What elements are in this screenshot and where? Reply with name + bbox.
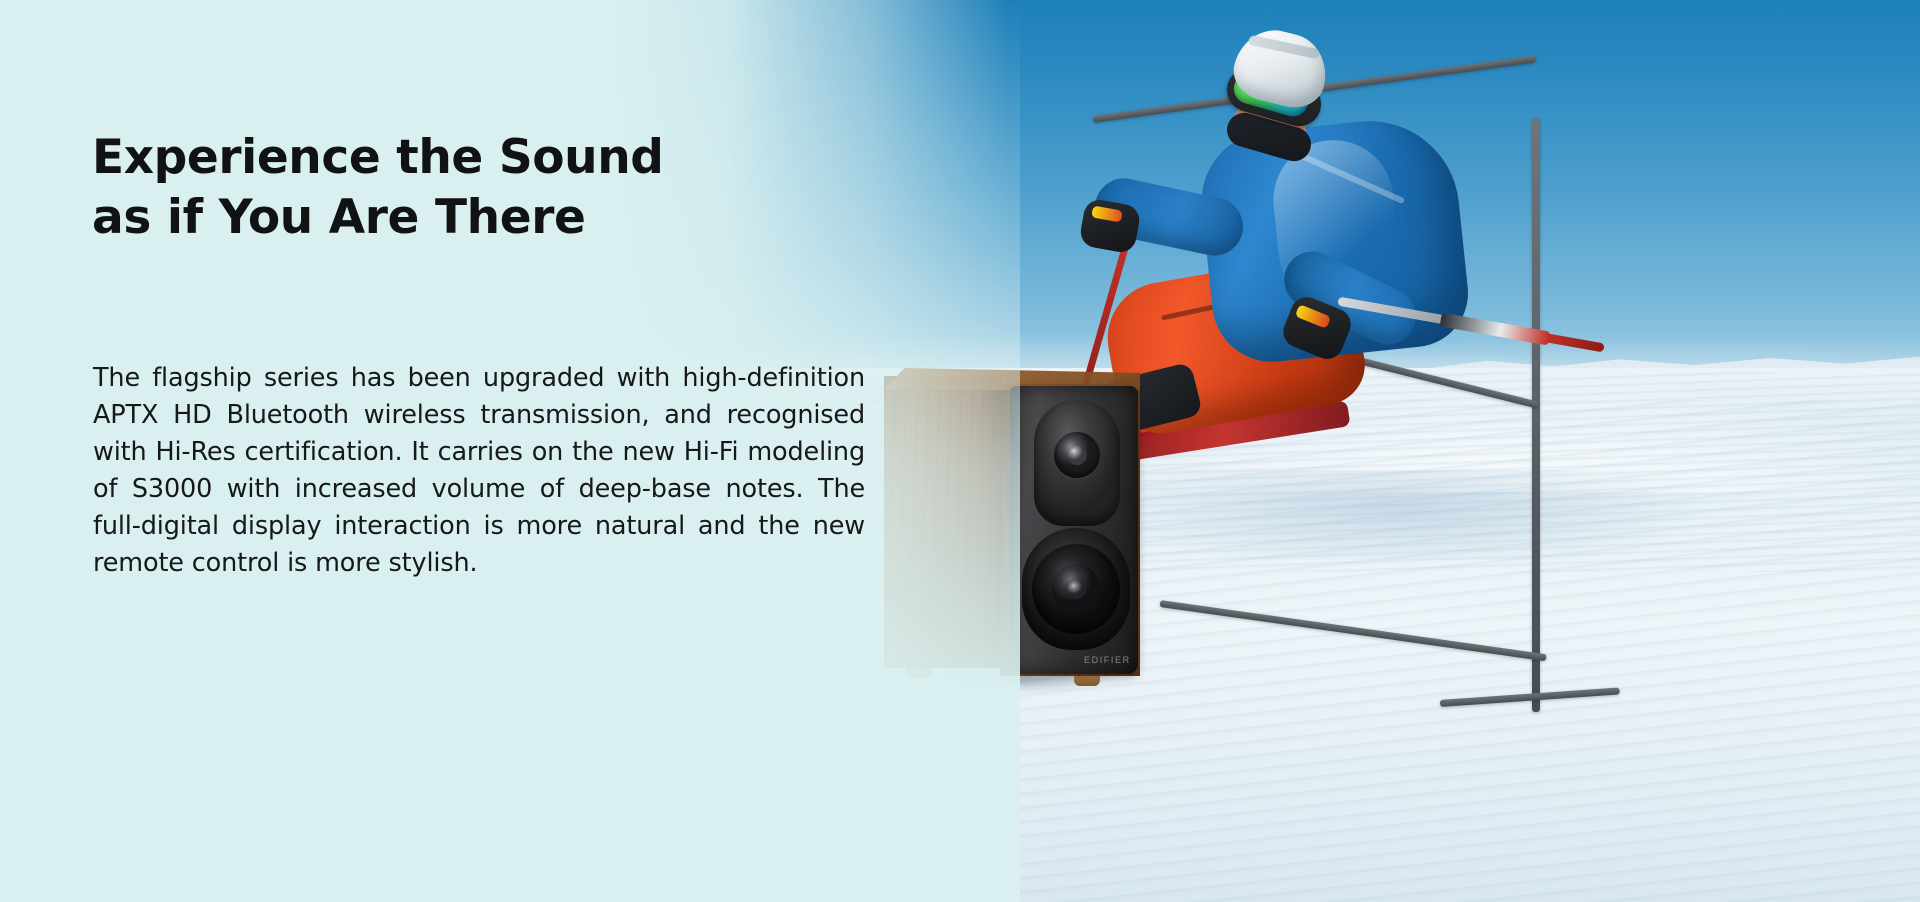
promo-banner: EDIFIER Experience the Sound as if You A… [0, 0, 1920, 902]
glove-left [1078, 198, 1141, 255]
page-title: Experience the Sound as if You Are There [92, 128, 852, 248]
body-paragraph: The flagship series has been upgraded wi… [93, 360, 865, 582]
woofer-dust-cap [1067, 580, 1086, 599]
tweeter-dome [1067, 445, 1087, 465]
brand-logo: EDIFIER [1084, 654, 1130, 666]
pole-branding [1440, 313, 1551, 346]
copy-block: Experience the Sound as if You Are There… [0, 0, 1010, 902]
